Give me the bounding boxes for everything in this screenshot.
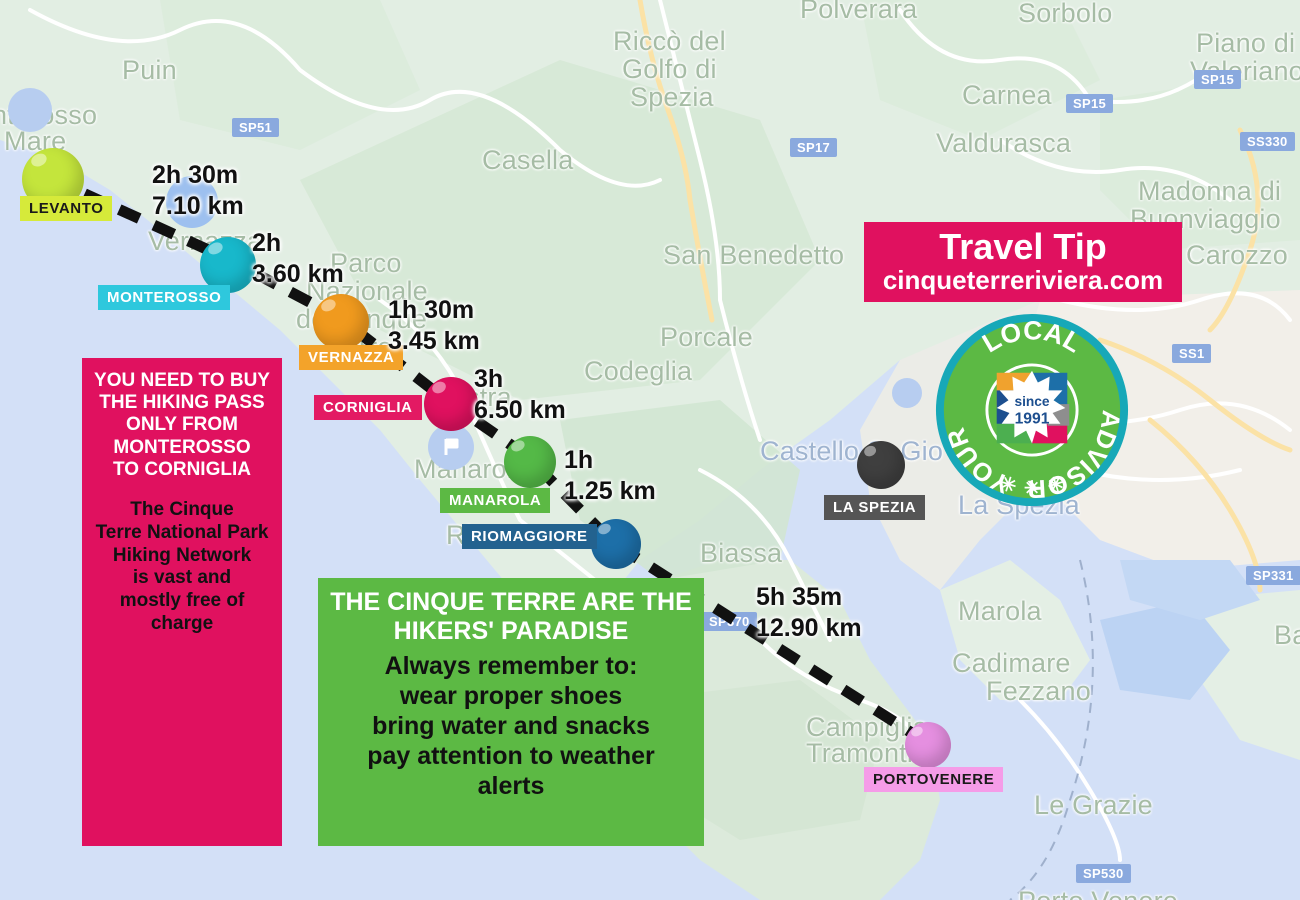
road-shield: SP331 [1246, 566, 1300, 585]
map-label: Riccò del [613, 26, 726, 57]
poi-laspezia-icon [892, 378, 922, 408]
callout-line: Always remember to: [324, 651, 698, 681]
hiking-pass-callout: YOU NEED TO BUYTHE HIKING PASSONLY FROMM… [82, 358, 282, 846]
road-shield: SP51 [232, 118, 279, 137]
map-label: Porcale [660, 322, 753, 353]
leg-distance: 3.60 km [252, 259, 344, 290]
callout-line: MONTEROSSO [90, 437, 274, 459]
poi-flag-icon [440, 436, 462, 458]
map-label: Codeglia [584, 356, 692, 387]
callout-line: Terre National Park [90, 522, 274, 545]
map-label: Carozzo [1186, 240, 1288, 271]
your-local-advisor-logo: LOCAL ADVISOR YOUR ✳ ✳ ✳ since 1991 [934, 312, 1130, 508]
map-label: Casella [482, 145, 573, 176]
callout-line: ONLY FROM [90, 414, 274, 436]
hikers-paradise-heading: THE CINQUE TERRE ARE THEHIKERS' PARADISE [324, 588, 698, 647]
road-shield: SS330 [1240, 132, 1295, 151]
callout-line: TO CORNIGLIA [90, 459, 274, 481]
callout-line: wear proper shoes [324, 681, 698, 711]
map-label: Puin [122, 55, 177, 86]
map-label: Tramonti [806, 738, 913, 769]
leg-duration: 3h [474, 364, 566, 395]
svg-text:1991: 1991 [1015, 411, 1050, 428]
map-infographic: PuinnterossoMareCasellaRiccò delGolfo di… [0, 0, 1300, 900]
hiking-pass-body: The CinqueTerre National ParkHiking Netw… [90, 499, 274, 636]
town-marker-riomaggiore[interactable] [591, 519, 641, 569]
town-marker-la-spezia[interactable] [857, 441, 905, 489]
leg-distance: 1.25 km [564, 476, 656, 507]
town-badge-la-spezia: LA SPEZIA [824, 495, 925, 520]
leg-duration: 2h 30m [152, 160, 244, 191]
callout-line: bring water and snacks [324, 711, 698, 741]
callout-line: Hiking Network [90, 545, 274, 568]
hikers-paradise-body: Always remember to:wear proper shoesbrin… [324, 651, 698, 801]
callout-line: mostly free of [90, 590, 274, 613]
leg-duration: 1h [564, 445, 656, 476]
town-marker-manarola[interactable] [504, 436, 556, 488]
town-badge-levanto: LEVANTO [20, 196, 112, 221]
trail-leg-label: 5h 35m12.90 km [756, 582, 862, 643]
map-label: Golfo di [622, 54, 717, 85]
callout-line: THE CINQUE TERRE ARE THE [324, 588, 698, 617]
road-shield: SS1 [1172, 344, 1211, 363]
leg-duration: 2h [252, 228, 344, 259]
map-label: Castello S. Gio [760, 436, 943, 467]
road-shield: SP370 [702, 612, 757, 631]
town-marker-corniglia[interactable] [424, 377, 478, 431]
trail-leg-label: 1h 30m3.45 km [388, 295, 480, 356]
map-label: Marola [958, 596, 1042, 627]
town-marker-vernazza[interactable] [313, 294, 369, 350]
trail-leg-label: 2h3.60 km [252, 228, 344, 289]
leg-duration: 1h 30m [388, 295, 480, 326]
poi-monterosso-icon [8, 88, 52, 132]
leg-duration: 5h 35m [756, 582, 862, 613]
town-badge-monterosso: MONTEROSSO [98, 285, 230, 310]
travel-tip-title: Travel Tip [872, 228, 1174, 266]
travel-tip-website: cinqueterreriviera.com [872, 266, 1174, 295]
map-label: Ba [1274, 620, 1300, 651]
map-label: Spezia [630, 82, 714, 113]
hiking-pass-heading: YOU NEED TO BUYTHE HIKING PASSONLY FROMM… [90, 370, 274, 481]
trail-leg-label: 1h1.25 km [564, 445, 656, 506]
leg-distance: 3.45 km [388, 326, 480, 357]
trail-leg-label: 2h 30m7.10 km [152, 160, 244, 221]
map-label: Fezzano [986, 676, 1091, 707]
map-label: Valdurasca [936, 128, 1071, 159]
map-label: Le Grazie [1034, 790, 1153, 821]
trail-leg-label: 3h6.50 km [474, 364, 566, 425]
town-badge-riomaggiore: RIOMAGGIORE [462, 524, 597, 549]
map-label: Sorbolo [1018, 0, 1112, 29]
callout-line: alerts [324, 771, 698, 801]
town-badge-manarola: MANAROLA [440, 488, 550, 513]
town-marker-portovenere[interactable] [905, 722, 951, 768]
map-label: San Benedetto [663, 240, 844, 271]
callout-line: HIKERS' PARADISE [324, 617, 698, 646]
map-label: Madonna di [1138, 176, 1281, 207]
map-label: Piano di [1196, 28, 1295, 59]
road-shield: SP530 [1076, 864, 1131, 883]
callout-line: The Cinque [90, 499, 274, 522]
road-shield: SP17 [790, 138, 837, 157]
map-label: Cadimare [952, 648, 1071, 679]
map-label: Porto Venere [1018, 886, 1178, 900]
hikers-paradise-callout: THE CINQUE TERRE ARE THEHIKERS' PARADISE… [318, 578, 704, 846]
callout-line: is vast and [90, 567, 274, 590]
map-label: Biassa [700, 538, 782, 569]
leg-distance: 12.90 km [756, 613, 862, 644]
leg-distance: 7.10 km [152, 191, 244, 222]
callout-line: YOU NEED TO BUY [90, 370, 274, 392]
map-label: Carnea [962, 80, 1052, 111]
leg-distance: 6.50 km [474, 395, 566, 426]
callout-line: charge [90, 613, 274, 636]
town-badge-corniglia: CORNIGLIA [314, 395, 422, 420]
road-shield: SP15 [1194, 70, 1241, 89]
road-shield: SP15 [1066, 94, 1113, 113]
callout-line: pay attention to weather [324, 741, 698, 771]
travel-tip-banner: Travel Tip cinqueterreriviera.com [864, 222, 1182, 302]
map-label: Polverara [800, 0, 917, 25]
svg-text:since: since [1014, 394, 1049, 409]
callout-line: THE HIKING PASS [90, 392, 274, 414]
town-badge-portovenere: PORTOVENERE [864, 767, 1003, 792]
